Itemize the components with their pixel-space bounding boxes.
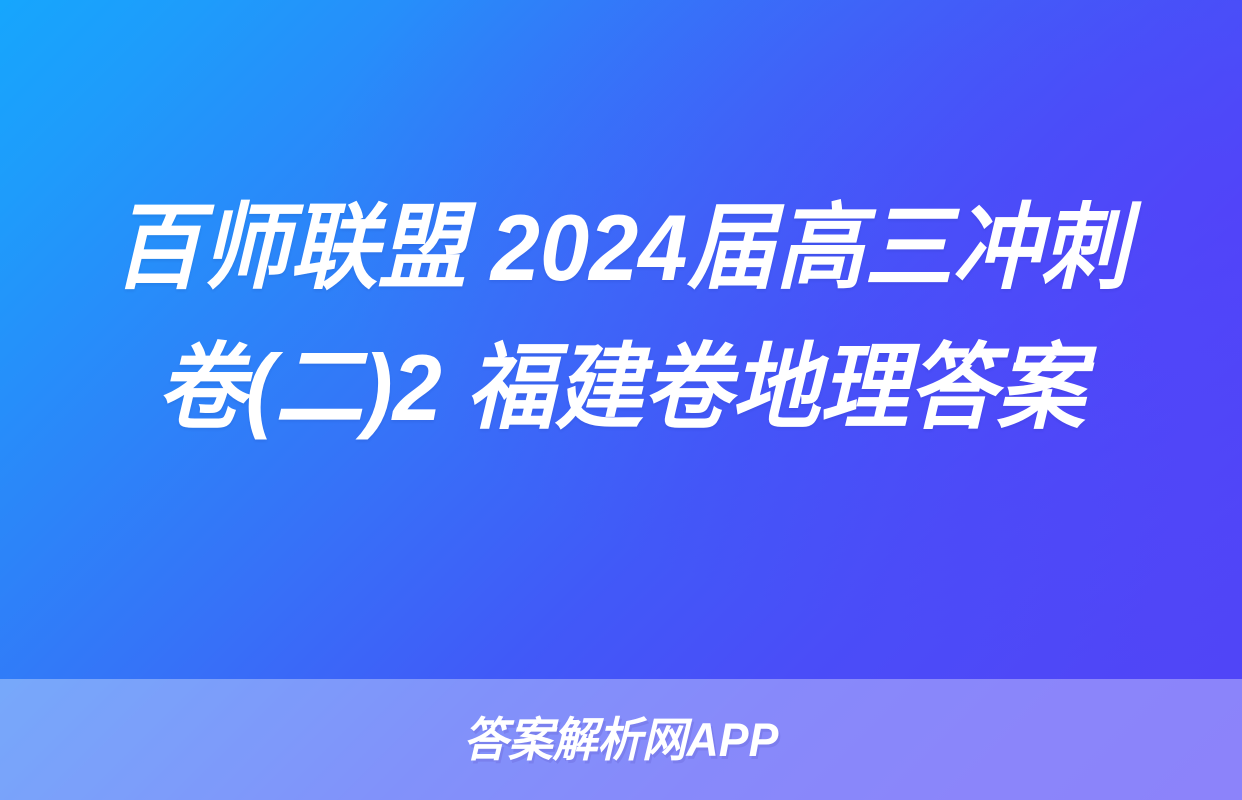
poster-canvas: 百师联盟 2024届高三冲刺卷(二)2 福建卷地理答案 答案解析网APP: [0, 0, 1242, 800]
page-title: 百师联盟 2024届高三冲刺卷(二)2 福建卷地理答案: [96, 178, 1147, 458]
footer-watermark-text: 答案解析网APP: [463, 716, 778, 763]
poster-title-block: 百师联盟 2024届高三冲刺卷(二)2 福建卷地理答案: [0, 178, 1242, 458]
footer-watermark-band: 答案解析网APP: [0, 679, 1242, 800]
